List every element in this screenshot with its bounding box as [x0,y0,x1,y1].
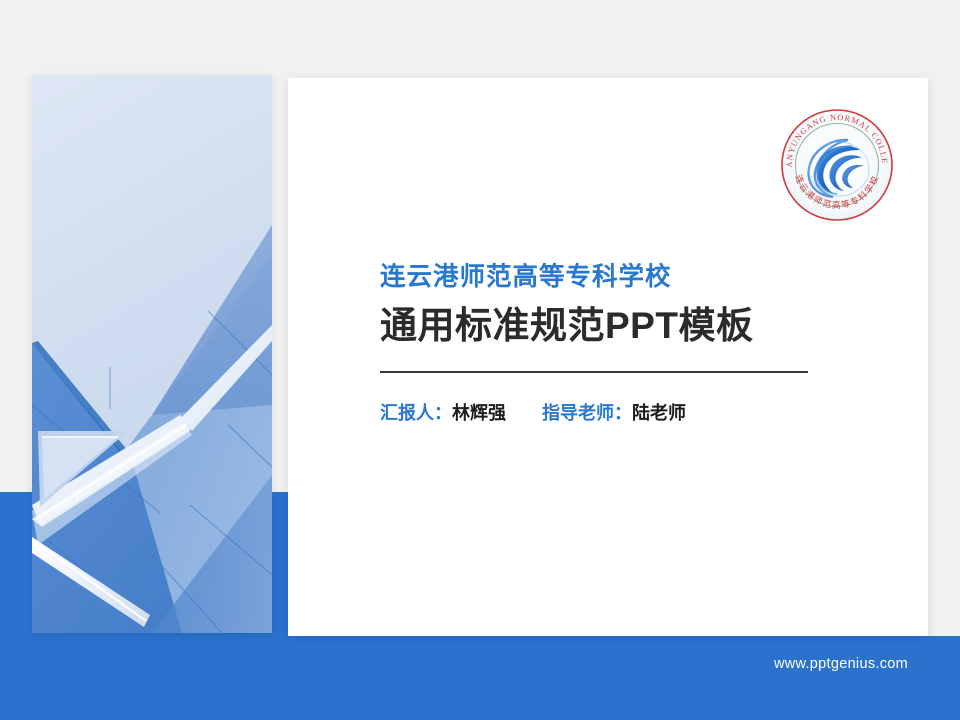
presenter-row: 汇报人：林辉强 指导老师：陆老师 [380,399,850,425]
title-block: 连云港师范高等专科学校 通用标准规范PPT模板 汇报人：林辉强 指导老师：陆老师 [380,262,850,425]
advisor-name: 陆老师 [632,403,686,423]
blue-footer-band [0,636,960,720]
school-name: 连云港师范高等专科学校 [380,262,850,293]
title-divider [380,371,808,374]
presentation-slide: LIANYUNGANG NORMAL COLLEGE 连云港师范高等专科学校 连… [0,0,960,720]
page-title: 通用标准规范PPT模板 [380,303,850,349]
college-logo: LIANYUNGANG NORMAL COLLEGE 连云港师范高等专科学校 [778,106,896,224]
footer-url[interactable]: www.pptgenius.com [774,656,908,672]
cover-photo [32,75,272,633]
presenter-name: 林辉强 [452,403,506,423]
advisor-label: 指导老师： [542,403,632,423]
presenter-label: 汇报人： [380,403,452,423]
